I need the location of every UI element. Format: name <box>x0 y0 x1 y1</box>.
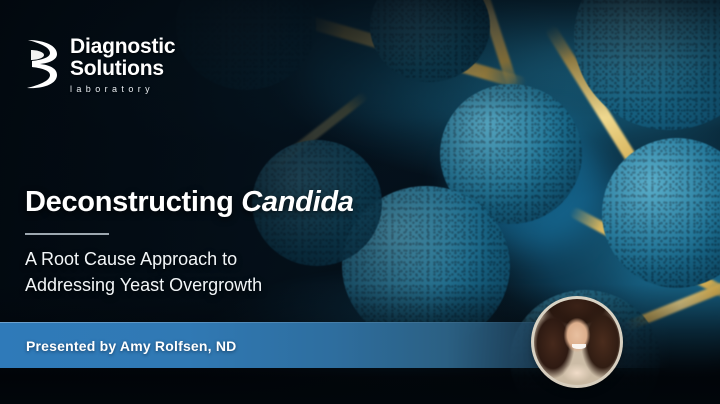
slide-title-main: Deconstructing <box>25 186 234 218</box>
webinar-title-slide: Diagnostic Solutions laboratory Deconstr… <box>0 0 720 404</box>
slide-subtitle: A Root Cause Approach to Addressing Yeas… <box>25 246 262 298</box>
diagnostic-solutions-swirl-icon <box>25 38 59 90</box>
slide-title: Deconstructing Candida <box>25 186 354 219</box>
presenter-label: Presented by Amy Rolfsen, ND <box>26 338 236 354</box>
brand-logo-line2: Solutions <box>70 58 175 80</box>
avatar-photo <box>534 299 620 385</box>
brand-logo-wordmark: Diagnostic Solutions laboratory <box>70 36 175 94</box>
slide-subtitle-line1: A Root Cause Approach to <box>25 246 262 272</box>
brand-logo: Diagnostic Solutions laboratory <box>25 36 175 94</box>
avatar-smile <box>572 344 586 349</box>
presenter-portrait-avatar <box>534 299 620 385</box>
slide-title-emphasis: Candida <box>241 186 353 218</box>
slide-subtitle-line2: Addressing Yeast Overgrowth <box>25 272 262 298</box>
title-divider-rule <box>25 233 109 235</box>
brand-logo-tagline: laboratory <box>70 85 175 94</box>
brand-logo-line1: Diagnostic <box>70 36 175 58</box>
